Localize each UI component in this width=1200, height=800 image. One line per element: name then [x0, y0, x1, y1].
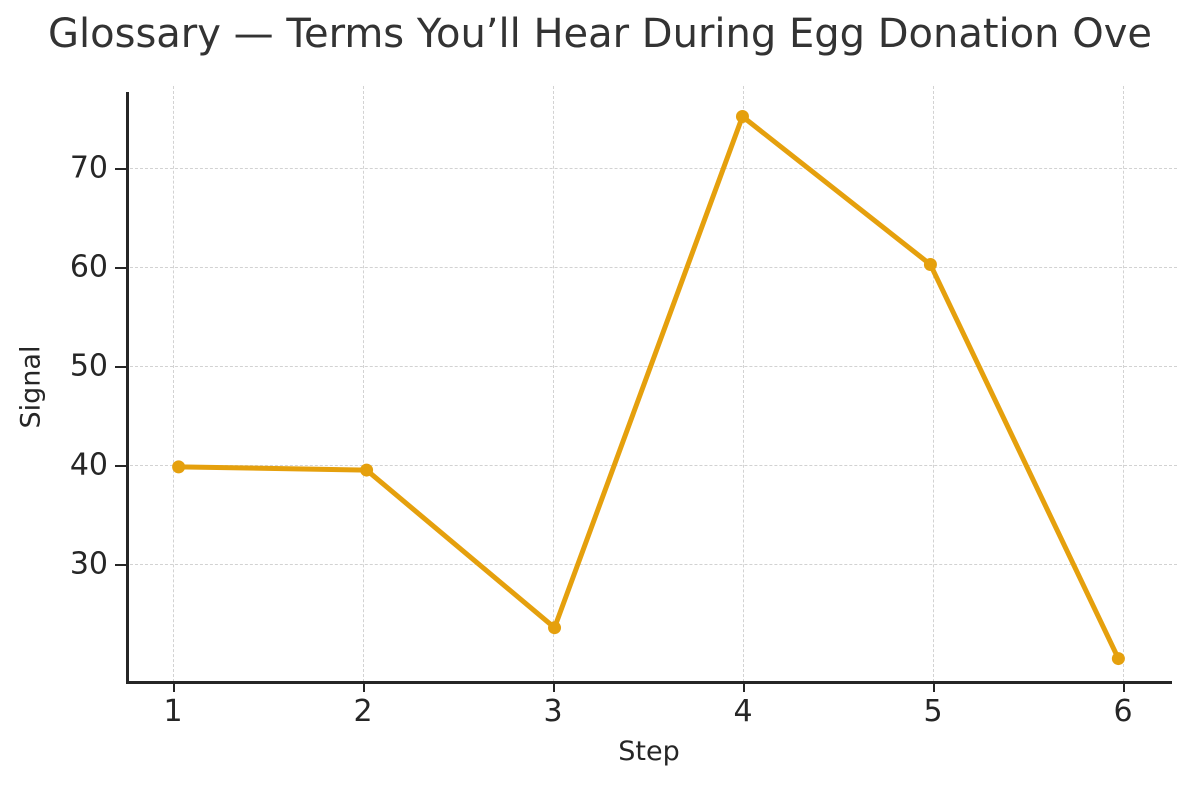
series-markers — [172, 110, 1125, 665]
chart-figure: Glossary — Terms You’ll Hear During Egg … — [0, 0, 1200, 800]
data-point-2 — [360, 464, 373, 477]
data-point-3 — [548, 621, 561, 634]
data-point-6 — [1112, 652, 1125, 665]
series-line — [179, 116, 1119, 658]
data-point-1 — [172, 460, 185, 473]
data-series-layer — [0, 0, 1200, 800]
data-point-5 — [924, 258, 937, 271]
data-point-4 — [736, 110, 749, 123]
